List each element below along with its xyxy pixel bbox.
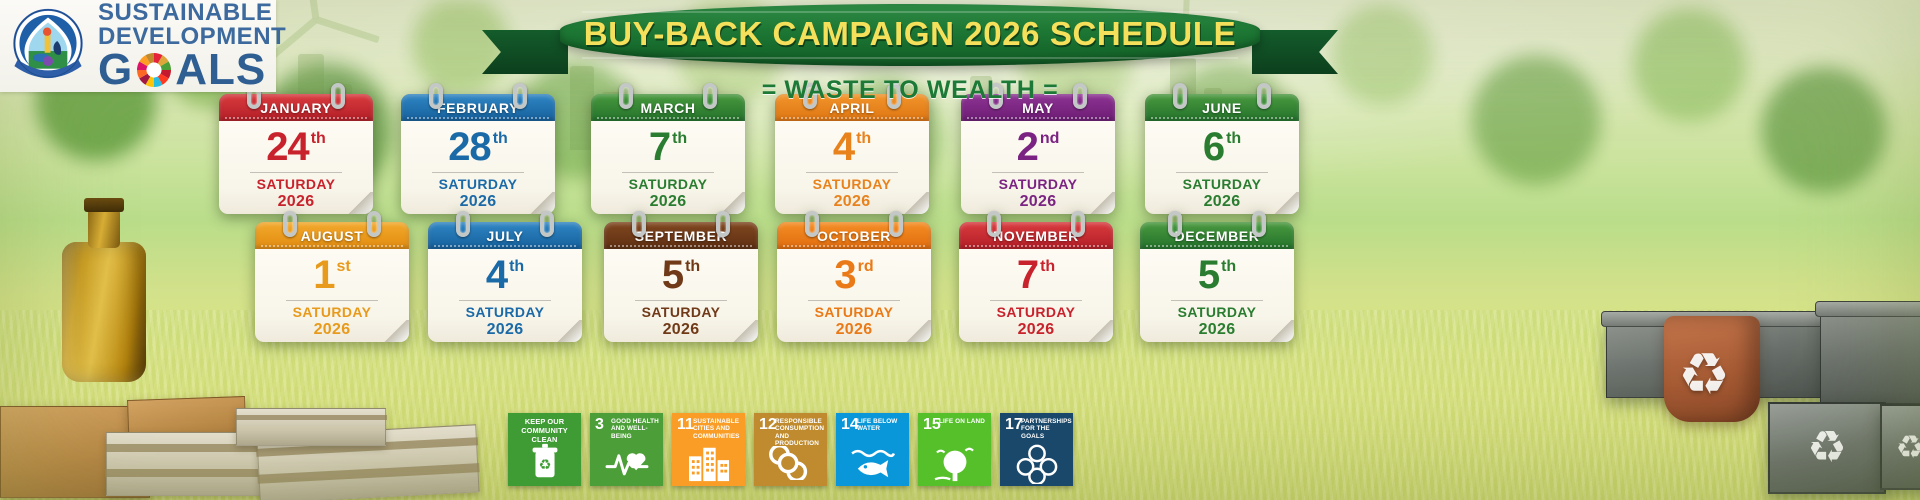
calendar-month-label: AUGUST xyxy=(301,228,364,244)
calendar-year: 2026 xyxy=(460,193,497,211)
calendar-divider xyxy=(992,172,1084,173)
city-buildings-icon xyxy=(672,443,745,483)
calendar-divider xyxy=(806,172,898,173)
calendar-divider xyxy=(1171,300,1263,301)
calendar-card-september[interactable]: SEPTEMBER5thSATURDAY2026 xyxy=(604,222,758,342)
calendar-day-number: 1 xyxy=(313,255,334,295)
sdg-color-wheel-icon xyxy=(134,50,174,90)
header-logo-block: SUSTAINABLE DEVELOPMENT G xyxy=(0,0,276,92)
calendar-day-suffix: th xyxy=(685,259,700,275)
calendar-day-suffix: th xyxy=(856,131,871,147)
calendar-year: 2026 xyxy=(487,321,524,339)
calendar-card-february[interactable]: FEBRUARY28thSATURDAY2026 xyxy=(401,94,555,214)
sdg-line-1: SUSTAINABLE xyxy=(98,1,286,25)
binder-ring-icon xyxy=(889,211,903,237)
calendar-day-suffix: th xyxy=(1221,259,1236,275)
calendar-day-of-week: SATURDAY xyxy=(813,176,892,192)
calendar-day-of-week: SATURDAY xyxy=(629,176,708,192)
binder-ring-icon xyxy=(513,83,527,109)
calendar-day-of-week: SATURDAY xyxy=(999,176,1078,192)
calendar-month-label: JANUARY xyxy=(260,100,331,116)
sdg-number: 3 xyxy=(595,417,604,433)
recycle-bin-icon: ♻ xyxy=(508,440,581,484)
calendar-card-december[interactable]: DECEMBER5thSATURDAY2026 xyxy=(1140,222,1294,342)
calendar-day-of-week: SATURDAY xyxy=(1183,176,1262,192)
binder-ring-icon xyxy=(805,211,819,237)
calendar-card-header: OCTOBER xyxy=(777,222,931,249)
calendar-divider xyxy=(250,172,342,173)
calendar-day-group: 1st xyxy=(313,255,350,295)
calendar-card-body: 28thSATURDAY2026 xyxy=(401,121,555,214)
calendar-card-header: SEPTEMBER xyxy=(604,222,758,249)
recycle-symbol-icon: ♻ xyxy=(1678,346,1730,404)
calendar-year: 2026 xyxy=(1204,193,1241,211)
calendar-day-number: 4 xyxy=(486,255,507,295)
calendar-card-august[interactable]: AUGUST1stSATURDAY2026 xyxy=(255,222,409,342)
calendar-day-number: 7 xyxy=(1017,255,1038,295)
sdg-15-life-on-land-tile[interactable]: 15Life on Land xyxy=(918,413,991,486)
partnership-rings-icon xyxy=(1000,443,1073,483)
calendar-divider xyxy=(990,300,1082,301)
calendar-divider xyxy=(808,300,900,301)
calendar-day-group: 6th xyxy=(1203,127,1241,167)
sdg-title: Life on Land xyxy=(939,418,988,425)
calendar-day-suffix: th xyxy=(311,131,326,147)
sdg-title: Sustainable Cities and Communities xyxy=(693,418,742,440)
calendar-day-number: 4 xyxy=(833,127,854,167)
calendar-day-of-week: SATURDAY xyxy=(439,176,518,192)
calendar-day-group: 3rd xyxy=(834,255,873,295)
calendar-card-may[interactable]: MAY2ndSATURDAY2026 xyxy=(961,94,1115,214)
keep-community-clean-tile[interactable]: Keep Our Community Clean♻ xyxy=(508,413,581,486)
calendar-year: 2026 xyxy=(1020,193,1057,211)
binder-ring-icon xyxy=(331,83,345,109)
sdg-title: Good Health and Well-Being xyxy=(611,418,660,440)
calendar-month-label: JULY xyxy=(487,228,524,244)
banner-subtitle: = WASTE TO WEALTH = xyxy=(560,76,1260,105)
calendar-day-of-week: SATURDAY xyxy=(293,304,372,320)
calendar-card-header: JANUARY xyxy=(219,94,373,121)
calendar-year: 2026 xyxy=(278,193,315,211)
calendar-day-suffix: th xyxy=(1040,259,1055,275)
calendar-day-group: 4th xyxy=(833,127,871,167)
calendar-divider xyxy=(622,172,714,173)
calendar-card-november[interactable]: NOVEMBER7thSATURDAY2026 xyxy=(959,222,1113,342)
binder-ring-icon xyxy=(1071,211,1085,237)
calendar-card-body: 7thSATURDAY2026 xyxy=(959,249,1113,342)
calendar-card-january[interactable]: JANUARY24thSATURDAY2026 xyxy=(219,94,373,214)
calendar-card-body: 4thSATURDAY2026 xyxy=(428,249,582,342)
sdg-title: Life Below Water xyxy=(857,418,906,433)
campaign-banner: BUY-BACK CAMPAIGN 2026 SCHEDULE = WASTE … xyxy=(560,4,1260,100)
calendar-year: 2026 xyxy=(1018,321,1055,339)
calendar-card-header: JULY xyxy=(428,222,582,249)
calendar-card-body: 24thSATURDAY2026 xyxy=(219,121,373,214)
calendar-day-suffix: st xyxy=(337,259,351,275)
calendar-card-body: 4thSATURDAY2026 xyxy=(775,121,929,214)
calendar-card-header: NOVEMBER xyxy=(959,222,1113,249)
calendar-day-group: 5th xyxy=(662,255,700,295)
calendar-card-header: DECEMBER xyxy=(1140,222,1294,249)
calendar-day-number: 24 xyxy=(266,127,309,167)
calendar-card-body: 7thSATURDAY2026 xyxy=(591,121,745,214)
calendar-divider xyxy=(459,300,551,301)
binder-ring-icon xyxy=(456,211,470,237)
binder-ring-icon xyxy=(1252,211,1266,237)
calendar-year: 2026 xyxy=(663,321,700,339)
calendar-day-number: 28 xyxy=(448,127,491,167)
calendar-card-october[interactable]: OCTOBER3rdSATURDAY2026 xyxy=(777,222,931,342)
calendar-day-group: 28th xyxy=(448,127,508,167)
binder-ring-icon xyxy=(1168,211,1182,237)
banner-ribbon: BUY-BACK CAMPAIGN 2026 SCHEDULE xyxy=(560,4,1260,66)
calendar-month-label: NOVEMBER xyxy=(993,228,1079,244)
calendar-day-suffix: th xyxy=(493,131,508,147)
calendar-card-april[interactable]: APRIL4thSATURDAY2026 xyxy=(775,94,929,214)
calendar-month-label: OCTOBER xyxy=(817,228,891,244)
calendar-day-suffix: th xyxy=(509,259,524,275)
calendar-day-of-week: SATURDAY xyxy=(815,304,894,320)
calendar-card-header: AUGUST xyxy=(255,222,409,249)
calendar-divider xyxy=(635,300,727,301)
sdg-goals-suffix: ALS xyxy=(175,49,266,91)
calendar-card-header: FEBRUARY xyxy=(401,94,555,121)
calendar-month-label: DECEMBER xyxy=(1175,228,1260,244)
calendar-year: 2026 xyxy=(314,321,351,339)
calendar-card-body: 2ndSATURDAY2026 xyxy=(961,121,1115,214)
calendar-year: 2026 xyxy=(650,193,687,211)
calendar-year: 2026 xyxy=(836,321,873,339)
svg-text:♻: ♻ xyxy=(538,458,551,474)
calendar-day-number: 6 xyxy=(1203,127,1224,167)
fish-wave-icon xyxy=(836,443,909,483)
sdg-14-life-below-water-tile[interactable]: 14Life Below Water xyxy=(836,413,909,486)
calendar-day-number: 5 xyxy=(1198,255,1219,295)
ribbon-body: BUY-BACK CAMPAIGN 2026 SCHEDULE xyxy=(560,4,1260,66)
calendar-card-body: 1stSATURDAY2026 xyxy=(255,249,409,342)
calendar-day-group: 4th xyxy=(486,255,524,295)
calendar-card-march[interactable]: MARCH7thSATURDAY2026 xyxy=(591,94,745,214)
calendar-day-of-week: SATURDAY xyxy=(257,176,336,192)
calendar-day-of-week: SATURDAY xyxy=(997,304,1076,320)
calendar-day-of-week: SATURDAY xyxy=(466,304,545,320)
binder-ring-icon xyxy=(987,211,1001,237)
sdg-wordmark: SUSTAINABLE DEVELOPMENT G xyxy=(98,1,286,91)
sdg-3-good-health-tile[interactable]: 3Good Health and Well-Being xyxy=(590,413,663,486)
calendar-card-july[interactable]: JULY4thSATURDAY2026 xyxy=(428,222,582,342)
newspaper-bundle-prop xyxy=(236,408,386,446)
calendar-day-of-week: SATURDAY xyxy=(1178,304,1257,320)
calendar-year: 2026 xyxy=(1199,321,1236,339)
calendar-day-of-week: SATURDAY xyxy=(642,304,721,320)
binder-ring-icon xyxy=(367,211,381,237)
calendar-day-suffix: th xyxy=(672,131,687,147)
calendar-day-number: 2 xyxy=(1017,127,1038,167)
calendar-card-june[interactable]: JUNE6thSATURDAY2026 xyxy=(1145,94,1299,214)
calendar-year: 2026 xyxy=(834,193,871,211)
sdg-goals-prefix: G xyxy=(98,49,133,91)
metal-bin-prop xyxy=(1820,312,1920,404)
binder-ring-icon xyxy=(429,83,443,109)
glass-bottle-prop xyxy=(62,242,146,382)
sdg-number: 11 xyxy=(677,417,694,433)
calendar-day-group: 2nd xyxy=(1017,127,1060,167)
calendar-day-number: 3 xyxy=(834,255,855,295)
calendar-day-suffix: rd xyxy=(858,259,874,275)
calendar-day-group: 24th xyxy=(266,127,326,167)
calendar-card-body: 6thSATURDAY2026 xyxy=(1145,121,1299,214)
banner-title: BUY-BACK CAMPAIGN 2026 SCHEDULE xyxy=(584,15,1236,53)
binder-ring-icon xyxy=(716,211,730,237)
city-council-crest-icon xyxy=(6,4,90,88)
infinity-loop-icon xyxy=(754,443,827,483)
calendar-day-group: 7th xyxy=(1017,255,1055,295)
calendar-day-group: 5th xyxy=(1198,255,1236,295)
calendar-day-number: 5 xyxy=(662,255,683,295)
poster-canvas: ♻ ♻ ♻ SUSTAINABLE DEVELOP xyxy=(0,0,1920,500)
calendar-card-body: 3rdSATURDAY2026 xyxy=(777,249,931,342)
calendar-day-group: 7th xyxy=(649,127,687,167)
calendar-card-body: 5thSATURDAY2026 xyxy=(604,249,758,342)
binder-ring-icon xyxy=(283,211,297,237)
calendar-divider xyxy=(432,172,524,173)
sdg-17-partnerships-tile[interactable]: 17Partnerships for the Goals xyxy=(1000,413,1073,486)
calendar-day-suffix: th xyxy=(1226,131,1241,147)
binder-ring-icon xyxy=(540,211,554,237)
tree-birds-icon xyxy=(918,443,991,483)
sdg-11-sustainable-cities-tile[interactable]: 11Sustainable Cities and Communities xyxy=(672,413,745,486)
calendar-month-label: SEPTEMBER xyxy=(635,228,728,244)
sdg-title: Partnerships for the Goals xyxy=(1021,418,1070,440)
calendar-divider xyxy=(1176,172,1268,173)
sdg-12-responsible-consumption-tile[interactable]: 12Responsible Consumption and Production xyxy=(754,413,827,486)
calendar-day-number: 7 xyxy=(649,127,670,167)
calendar-card-body: 5thSATURDAY2026 xyxy=(1140,249,1294,342)
calendar-day-suffix: nd xyxy=(1040,131,1060,147)
heartbeat-icon xyxy=(590,443,663,483)
calendar-divider xyxy=(286,300,378,301)
recycle-bin-panel-prop: ♻ xyxy=(1768,402,1886,494)
binder-ring-icon xyxy=(632,211,646,237)
calendar-month-label: FEBRUARY xyxy=(437,100,519,116)
sdg-icon-strip: Keep Our Community Clean♻3Good Health an… xyxy=(508,413,1073,486)
recycle-bin-panel-prop: ♻ xyxy=(1880,404,1920,490)
